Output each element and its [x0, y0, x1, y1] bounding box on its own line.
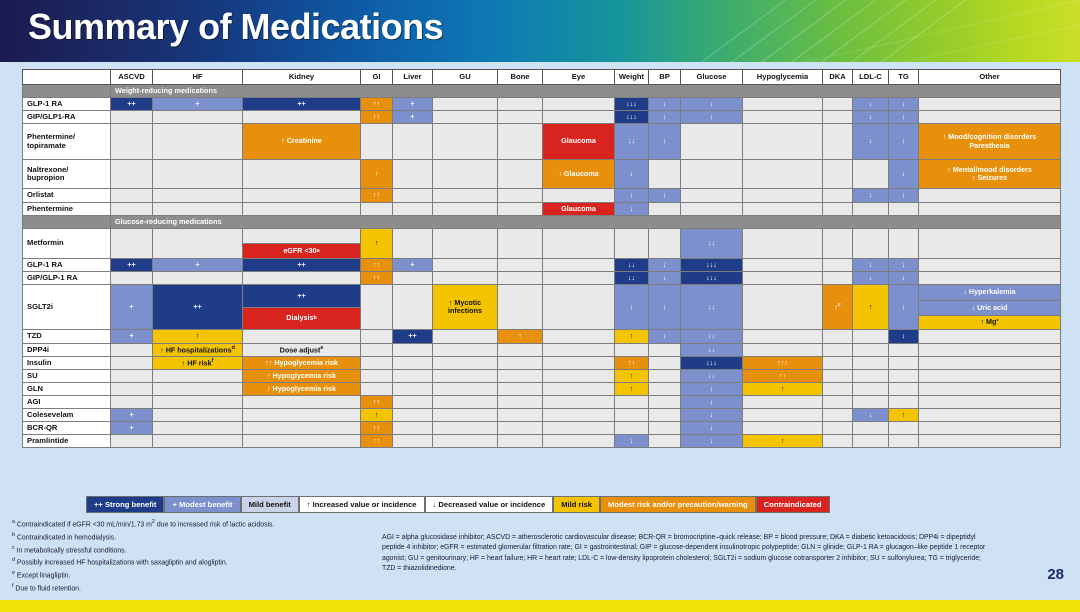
table-row: Pramlintide↑↑↓↓↑ [23, 435, 1061, 448]
column-header-liver: Liver [393, 70, 433, 85]
cell-tg: ↓ [889, 124, 919, 160]
column-header-hf: HF [153, 70, 243, 85]
cell-gu [433, 160, 498, 189]
cell-hf [153, 160, 243, 189]
cell-bp [649, 396, 681, 409]
cell-gu [433, 344, 498, 357]
cell-liver [393, 124, 433, 160]
cell-kidney: eGFR <30a [243, 229, 361, 259]
medication-summary-table: ASCVDHFKidneyGILiverGUBoneEyeWeightBPGlu… [22, 69, 1061, 448]
row-label-gip-glp1-ra: GIP/GLP1-RA [23, 111, 111, 124]
cell-eye [543, 357, 615, 370]
cell-glucose: ↓ [681, 422, 743, 435]
cell-weight [615, 396, 649, 409]
cell-dka [823, 203, 853, 216]
table-row: DPP4i↑ HF hospitalizationsdDose adjuste↓… [23, 344, 1061, 357]
cell-gu [433, 259, 498, 272]
table-row: Insulin↑ HF riskf↑↑ Hypoglycemia risk↑↑↓… [23, 357, 1061, 370]
cell-bone [498, 189, 543, 203]
cell-bp [649, 203, 681, 216]
cell-hypoglycemia [743, 98, 823, 111]
cell-segment: ↓ Uric acid [919, 300, 1060, 315]
cell-ldl-c: ↓ [853, 272, 889, 285]
section-header-label: Glucose-reducing medications [111, 216, 1061, 229]
cell-weight: ↓↓ [615, 272, 649, 285]
cell-other [919, 435, 1061, 448]
cell-eye [543, 396, 615, 409]
cell-bp: ↓ [649, 272, 681, 285]
cell-tg [889, 435, 919, 448]
cell-kidney: ++ [243, 259, 361, 272]
cell-hf: ++ [153, 285, 243, 330]
cell-bp: ↓ [649, 124, 681, 160]
cell-eye [543, 370, 615, 383]
footnote-2: c In metabolically stressful conditions. [12, 544, 372, 557]
table-row: GLP-1 RA+++++↑↑+↓↓↓↓↓↓↓ [23, 98, 1061, 111]
cell-kidney: ↑ Hypoglycemia risk [243, 370, 361, 383]
table-row: Naltrexone/bupropion↑↑ Glaucoma↓↓↑ Menta… [23, 160, 1061, 189]
legend-item-1: + Modest benefit [164, 496, 240, 513]
cell-eye [543, 229, 615, 259]
cell-tg [889, 370, 919, 383]
cell-dka [823, 422, 853, 435]
cell-ascvd [111, 229, 153, 259]
cell-dka: ↑c [823, 285, 853, 330]
cell-liver [393, 229, 433, 259]
cell-bp: ↓ [649, 111, 681, 124]
cell-gi: ↑↑ [361, 272, 393, 285]
cell-ldl-c: ↓ [853, 111, 889, 124]
cell-hf: + [153, 259, 243, 272]
cell-dka [823, 370, 853, 383]
table-row: GIP/GLP1-RA↑↑+↓↓↓↓↓↓↓ [23, 111, 1061, 124]
table-row: AGI↑↑↓ [23, 396, 1061, 409]
cell-weight: ↓↓↓ [615, 98, 649, 111]
page-title: Summary of Medications [28, 6, 443, 48]
cell-glucose [681, 124, 743, 160]
cell-gi [361, 383, 393, 396]
table-row: Colesevelam+↑↓↓↑ [23, 409, 1061, 422]
cell-ldl-c [853, 203, 889, 216]
cell-bp: ↓ [649, 259, 681, 272]
cell-gu [433, 111, 498, 124]
cell-other [919, 396, 1061, 409]
cell-ldl-c [853, 383, 889, 396]
cell-gu: ↑ Mycoticinfections [433, 285, 498, 330]
cell-gi [361, 203, 393, 216]
cell-bp [649, 229, 681, 259]
cell-gu [433, 409, 498, 422]
legend-item-2: Mild benefit [241, 496, 299, 513]
row-label-naltrexone-bupropion: Naltrexone/bupropion [23, 160, 111, 189]
cell-dka [823, 272, 853, 285]
cell-gi [361, 285, 393, 330]
row-label-su: SU [23, 370, 111, 383]
cell-hypoglycemia [743, 111, 823, 124]
cell-glucose: ↓ [681, 409, 743, 422]
cell-ldl-c: ↑ [853, 285, 889, 330]
cell-ldl-c [853, 370, 889, 383]
cell-other [919, 272, 1061, 285]
cell-bone [498, 285, 543, 330]
footnotes-block: a Contraindicated if eGFR <30 mL/min/1.7… [12, 518, 372, 595]
row-label-gln: GLN [23, 383, 111, 396]
cell-liver [393, 285, 433, 330]
cell-ldl-c [853, 160, 889, 189]
cell-hypoglycemia [743, 229, 823, 259]
cell-kidney [243, 111, 361, 124]
cell-bone [498, 409, 543, 422]
cell-weight [615, 409, 649, 422]
cell-liver: + [393, 111, 433, 124]
cell-eye [543, 98, 615, 111]
cell-ldl-c [853, 435, 889, 448]
cell-glucose: ↓↓ [681, 330, 743, 344]
cell-other [919, 189, 1061, 203]
cell-bp [649, 344, 681, 357]
cell-hypoglycemia [743, 409, 823, 422]
cell-gi [361, 330, 393, 344]
cell-ldl-c [853, 344, 889, 357]
cell-kidney [243, 330, 361, 344]
cell-ldl-c: ↓ [853, 124, 889, 160]
cell-bone [498, 396, 543, 409]
cell-bone [498, 422, 543, 435]
cell-gu [433, 435, 498, 448]
cell-liver: + [393, 259, 433, 272]
cell-gi [361, 124, 393, 160]
section-header-spacer [23, 216, 111, 229]
cell-bone [498, 111, 543, 124]
cell-gu [433, 330, 498, 344]
legend-item-5: Mild risk [553, 496, 600, 513]
section-header-row: Glucose-reducing medications [23, 216, 1061, 229]
column-header-other: Other [919, 70, 1061, 85]
cell-dka [823, 111, 853, 124]
cell-hypoglycemia: ↑ [743, 435, 823, 448]
cell-weight: ↓↓↓ [615, 111, 649, 124]
cell-dka [823, 435, 853, 448]
cell-gi: ↑↑ [361, 422, 393, 435]
cell-other: ↑ Mood/cognition disordersParesthesia [919, 124, 1061, 160]
cell-glucose [681, 160, 743, 189]
cell-segment: ↑ Mg* [919, 315, 1060, 329]
cell-bone [498, 124, 543, 160]
cell-gi: ↑↑ [361, 98, 393, 111]
cell-other: ↓ Hyperkalemia↓ Uric acid↑ Mg* [919, 285, 1061, 330]
cell-gu [433, 189, 498, 203]
cell-other [919, 203, 1061, 216]
cell-tg [889, 344, 919, 357]
cell-weight: ↓↓ [615, 259, 649, 272]
cell-gu [433, 357, 498, 370]
cell-segment [243, 229, 360, 243]
cell-kidney: ↑ Creatinine [243, 124, 361, 160]
cell-eye [543, 435, 615, 448]
table-header: ASCVDHFKidneyGILiverGUBoneEyeWeightBPGlu… [23, 70, 1061, 85]
cell-hypoglycemia [743, 160, 823, 189]
table-row: Phentermine/topiramate↑ CreatinineGlauco… [23, 124, 1061, 160]
cell-bone [498, 160, 543, 189]
footnote-3: d Possibly increased HF hospitalizations… [12, 556, 372, 569]
cell-dka [823, 259, 853, 272]
row-label-tzd: TZD [23, 330, 111, 344]
cell-gi: ↑↑ [361, 396, 393, 409]
row-label-gip-glp-1-ra: GIP/GLP-1 RA [23, 272, 111, 285]
row-label-pramlintide: Pramlintide [23, 435, 111, 448]
cell-dka [823, 330, 853, 344]
cell-hypoglycemia [743, 330, 823, 344]
cell-hf [153, 435, 243, 448]
cell-weight: ↓↓ [615, 124, 649, 160]
cell-other [919, 357, 1061, 370]
cell-eye [543, 272, 615, 285]
cell-hf [153, 229, 243, 259]
row-label-sglt2i: SGLT2i [23, 285, 111, 330]
cell-bone [498, 259, 543, 272]
cell-gu [433, 383, 498, 396]
cell-hypoglycemia [743, 285, 823, 330]
cell-tg [889, 203, 919, 216]
cell-weight [615, 344, 649, 357]
cell-ascvd: + [111, 409, 153, 422]
cell-glucose: ↓↓↓ [681, 357, 743, 370]
cell-kidney: ++ [243, 98, 361, 111]
cell-kidney [243, 422, 361, 435]
cell-ascvd: + [111, 422, 153, 435]
cell-hypoglycemia [743, 272, 823, 285]
abbreviations-block: AGI = alpha glucosidase inhibitor; ASCVD… [382, 533, 994, 575]
row-label-insulin: Insulin [23, 357, 111, 370]
cell-other [919, 422, 1061, 435]
cell-bone [498, 272, 543, 285]
cell-ascvd: + [111, 285, 153, 330]
cell-gu [433, 396, 498, 409]
cell-bp [649, 435, 681, 448]
cell-bp: ↓ [649, 285, 681, 330]
cell-bp [649, 422, 681, 435]
cell-ascvd [111, 435, 153, 448]
cell-ascvd [111, 344, 153, 357]
cell-gi: ↑ [361, 229, 393, 259]
table-body: Weight-reducing medicationsGLP-1 RA+++++… [23, 85, 1061, 448]
table-row: SGLT2i+++++Dialysisb↑ Mycoticinfections↓… [23, 285, 1061, 330]
cell-glucose: ↓ [681, 383, 743, 396]
footer-bar [0, 600, 1080, 612]
cell-tg [889, 357, 919, 370]
cell-weight: ↓ [615, 203, 649, 216]
cell-bone [498, 370, 543, 383]
row-label-metformin: Metformin [23, 229, 111, 259]
cell-ldl-c: ↓ [853, 98, 889, 111]
section-header-row: Weight-reducing medications [23, 85, 1061, 98]
section-header-label: Weight-reducing medications [111, 85, 1061, 98]
cell-hypoglycemia: ↑↑ [743, 370, 823, 383]
column-header-gu: GU [433, 70, 498, 85]
cell-eye [543, 409, 615, 422]
legend-item-3: ↑ Increased value or incidence [299, 496, 425, 513]
row-label-colesevelam: Colesevelam [23, 409, 111, 422]
cell-liver [393, 160, 433, 189]
cell-bp [649, 409, 681, 422]
row-label-orlistat: Orlistat [23, 189, 111, 203]
cell-hypoglycemia [743, 203, 823, 216]
row-label-dpp4i: DPP4i [23, 344, 111, 357]
cell-ldl-c [853, 357, 889, 370]
footnote-1: b Contraindicated in hemodialysis. [12, 531, 372, 544]
cell-kidney [243, 409, 361, 422]
cell-tg: ↓ [889, 272, 919, 285]
cell-ascvd [111, 370, 153, 383]
cell-kidney: ↑ Hypoglycemia risk [243, 383, 361, 396]
cell-bp: ↓ [649, 98, 681, 111]
cell-ldl-c [853, 396, 889, 409]
banner-swoosh-decoration [560, 0, 1080, 62]
cell-bp: ↓ [649, 189, 681, 203]
column-header-medication [23, 70, 111, 85]
table-row: MetformineGFR <30a↑↓↓ [23, 229, 1061, 259]
row-label-glp-1-ra: GLP-1 RA [23, 259, 111, 272]
footnote-5: f Due to fluid retention. [12, 582, 372, 595]
cell-glucose: ↓↓ [681, 344, 743, 357]
cell-bone [498, 203, 543, 216]
cell-tg: ↓ [889, 160, 919, 189]
cell-liver [393, 383, 433, 396]
column-header-dka: DKA [823, 70, 853, 85]
cell-ascvd [111, 111, 153, 124]
cell-weight [615, 422, 649, 435]
table-row: SU↑ Hypoglycemia risk↑↓↓↑↑ [23, 370, 1061, 383]
cell-liver [393, 344, 433, 357]
cell-tg [889, 396, 919, 409]
cell-hf: + [153, 98, 243, 111]
cell-dka [823, 344, 853, 357]
cell-eye: Glaucoma [543, 203, 615, 216]
cell-hypoglycemia [743, 189, 823, 203]
cell-bp [649, 383, 681, 396]
cell-tg: ↓ [889, 285, 919, 330]
column-header-ascvd: ASCVD [111, 70, 153, 85]
cell-kidney [243, 189, 361, 203]
cell-ascvd [111, 272, 153, 285]
cell-tg [889, 229, 919, 259]
cell-other [919, 383, 1061, 396]
cell-tg: ↑ [889, 409, 919, 422]
cell-hf [153, 409, 243, 422]
footnote-4: e Except linagliptin. [12, 569, 372, 582]
cell-dka [823, 98, 853, 111]
header-row: ASCVDHFKidneyGILiverGUBoneEyeWeightBPGlu… [23, 70, 1061, 85]
legend-item-7: Contraindicated [756, 496, 830, 513]
cell-dka [823, 229, 853, 259]
cell-ldl-c: ↓ [853, 259, 889, 272]
cell-glucose [681, 189, 743, 203]
cell-other [919, 259, 1061, 272]
cell-segment: eGFR <30a [243, 243, 360, 258]
cell-eye [543, 330, 615, 344]
cell-tg: ↓ [889, 98, 919, 111]
cell-gi [361, 344, 393, 357]
cell-ascvd [111, 396, 153, 409]
cell-other [919, 98, 1061, 111]
section-header-spacer [23, 85, 111, 98]
row-label-bcr-qr: BCR-QR [23, 422, 111, 435]
cell-eye [543, 383, 615, 396]
cell-glucose: ↓↓↓ [681, 272, 743, 285]
cell-hypoglycemia: ↑ [743, 383, 823, 396]
cell-liver [393, 272, 433, 285]
cell-hf: ↑ HF riskf [153, 357, 243, 370]
cell-tg [889, 383, 919, 396]
cell-hypoglycemia: ↑↑↑ [743, 357, 823, 370]
cell-liver: + [393, 98, 433, 111]
cell-segment: ++ [243, 285, 360, 307]
cell-ldl-c [853, 229, 889, 259]
cell-bone [498, 383, 543, 396]
table-row: Orlistat↑↑↓↓↓↓ [23, 189, 1061, 203]
cell-dka [823, 124, 853, 160]
page-number: 28 [1047, 566, 1064, 583]
cell-liver [393, 396, 433, 409]
legend-item-0: ++ Strong benefit [86, 496, 164, 513]
title-banner: Summary of Medications [0, 0, 1080, 62]
row-label-phentermine-topiramate: Phentermine/topiramate [23, 124, 111, 160]
cell-dka [823, 409, 853, 422]
cell-kidney: ++Dialysisb [243, 285, 361, 330]
table-row: GIP/GLP-1 RA↑↑↓↓↓↓↓↓↓↓ [23, 272, 1061, 285]
footnote-0: a Contraindicated if eGFR <30 mL/min/1.7… [12, 518, 372, 531]
cell-glucose: ↓↓↓ [681, 259, 743, 272]
cell-hf: ↑ [153, 330, 243, 344]
cell-kidney: ↑↑ Hypoglycemia risk [243, 357, 361, 370]
column-header-weight: Weight [615, 70, 649, 85]
cell-ascvd [111, 383, 153, 396]
cell-gi [361, 357, 393, 370]
cell-glucose: ↓ [681, 435, 743, 448]
cell-gu [433, 272, 498, 285]
column-header-ldl-c: LDL-C [853, 70, 889, 85]
column-header-glucose: Glucose [681, 70, 743, 85]
cell-ldl-c [853, 330, 889, 344]
cell-gi: ↑↑ [361, 111, 393, 124]
cell-other [919, 330, 1061, 344]
cell-liver [393, 189, 433, 203]
cell-glucose: ↓ [681, 396, 743, 409]
column-header-gi: GI [361, 70, 393, 85]
cell-other [919, 111, 1061, 124]
cell-bp [649, 160, 681, 189]
cell-kidney [243, 272, 361, 285]
legend-item-4: ↓ Decreased value or incidence [425, 496, 554, 513]
cell-glucose: ↓↓ [681, 285, 743, 330]
medication-summary-table-wrapper: ASCVDHFKidneyGILiverGUBoneEyeWeightBPGlu… [22, 69, 1060, 448]
cell-bp [649, 357, 681, 370]
cell-hypoglycemia [743, 396, 823, 409]
cell-liver [393, 357, 433, 370]
cell-hypoglycemia [743, 124, 823, 160]
cell-ascvd [111, 203, 153, 216]
cell-glucose: ↓↓ [681, 370, 743, 383]
cell-segment: Dialysisb [243, 307, 360, 329]
cell-kidney [243, 203, 361, 216]
cell-hf [153, 383, 243, 396]
cell-other [919, 229, 1061, 259]
cell-gu [433, 203, 498, 216]
cell-dka [823, 189, 853, 203]
cell-liver [393, 409, 433, 422]
cell-tg [889, 422, 919, 435]
slide-page: Summary of Medications ASCVDHFKidneyGILi… [0, 0, 1080, 612]
